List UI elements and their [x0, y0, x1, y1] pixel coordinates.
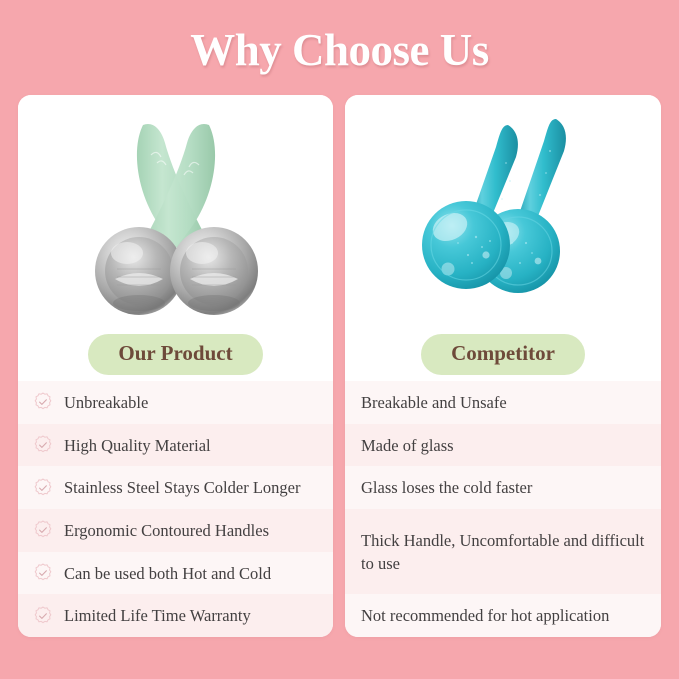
- list-item: Thick Handle, Uncomfortable and difficul…: [345, 509, 661, 594]
- our-product-card: Our Product Unbreakable High Quality Mat: [18, 95, 333, 637]
- our-product-feature-list: Unbreakable High Quality Material Stainl…: [18, 381, 333, 637]
- list-item-label: Ergonomic Contoured Handles: [64, 519, 269, 542]
- why-choose-us-comparison-page: Why Choose Us: [0, 0, 679, 679]
- list-item-label: Thick Handle, Uncomfortable and difficul…: [361, 529, 645, 575]
- list-item: Breakable and Unsafe: [345, 381, 661, 424]
- list-item-label: Glass loses the cold faster: [361, 476, 532, 499]
- competitor-badge-container: Competitor: [345, 327, 661, 381]
- list-item: Can be used both Hot and Cold: [18, 552, 333, 595]
- our-product-image-container: [18, 95, 333, 327]
- check-badge-icon: [32, 562, 54, 584]
- teal-glass-ice-globes-image: [398, 103, 608, 315]
- competitor-image-container: [345, 95, 661, 327]
- list-item: Not recommended for hot application: [345, 594, 661, 637]
- competitor-feature-list: Breakable and Unsafe Made of glass Glass…: [345, 381, 661, 637]
- check-badge-icon: [32, 477, 54, 499]
- list-item-label: Breakable and Unsafe: [361, 391, 507, 414]
- competitor-badge: Competitor: [421, 334, 585, 375]
- list-item-label: High Quality Material: [64, 434, 211, 457]
- our-product-badge: Our Product: [88, 334, 262, 375]
- list-item: High Quality Material: [18, 424, 333, 467]
- check-badge-icon: [32, 434, 54, 456]
- list-item: Unbreakable: [18, 381, 333, 424]
- check-badge-icon: [32, 519, 54, 541]
- list-item-label: Stainless Steel Stays Colder Longer: [64, 476, 300, 499]
- check-badge-icon: [32, 605, 54, 627]
- list-item: Made of glass: [345, 424, 661, 467]
- check-badge-icon: [32, 391, 54, 413]
- list-item-label: Made of glass: [361, 434, 454, 457]
- list-item-label: Can be used both Hot and Cold: [64, 562, 271, 585]
- list-item: Stainless Steel Stays Colder Longer: [18, 466, 333, 509]
- list-item: Ergonomic Contoured Handles: [18, 509, 333, 552]
- mint-green-ice-globes-image: [81, 103, 271, 323]
- competitor-card: Competitor Breakable and Unsafe Made of …: [345, 95, 661, 637]
- list-item-label: Not recommended for hot application: [361, 604, 609, 627]
- our-product-badge-container: Our Product: [18, 327, 333, 381]
- page-title: Why Choose Us: [0, 22, 679, 78]
- comparison-cards-container: Our Product Unbreakable High Quality Mat: [18, 95, 661, 637]
- list-item: Glass loses the cold faster: [345, 466, 661, 509]
- list-item-label: Limited Life Time Warranty: [64, 604, 251, 627]
- list-item: Limited Life Time Warranty: [18, 594, 333, 637]
- list-item-label: Unbreakable: [64, 391, 148, 414]
